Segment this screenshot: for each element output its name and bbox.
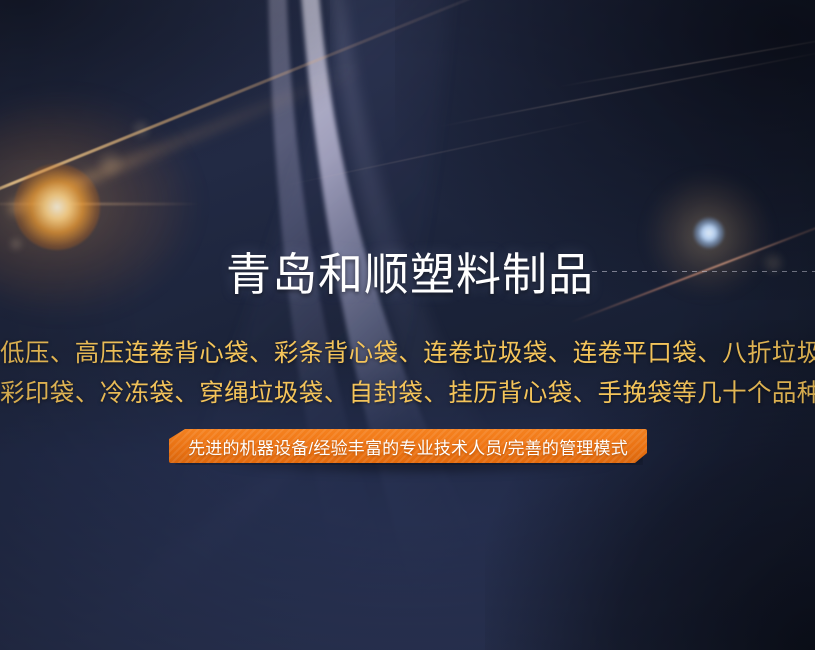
dashed-divider xyxy=(592,271,815,272)
ribbon-label: 先进的机器设备/经验丰富的专业技术人员/完善的管理模式 xyxy=(188,434,628,459)
tagline-ribbon: 先进的机器设备/经验丰富的专业技术人员/完善的管理模式 xyxy=(169,429,647,463)
lens-flare-core xyxy=(14,164,100,250)
star-flare-core xyxy=(694,218,724,248)
product-list-line-2: 彩印袋、冷冻袋、穿绳垃圾袋、自封袋、挂历背心袋、手挽袋等几十个品种 xyxy=(0,374,815,414)
page-title: 青岛和顺塑料制品 xyxy=(226,250,594,300)
lens-flare-orb-3 xyxy=(8,236,24,252)
lens-flare-orb-1 xyxy=(95,148,125,178)
lens-flare-orb-2 xyxy=(130,118,152,140)
star-flare-orb xyxy=(760,250,786,276)
promo-banner: 青岛和顺塑料制品 低压、高压连卷背心袋、彩条背心袋、连卷垃圾袋、连卷平口袋、八折… xyxy=(0,0,815,650)
product-list: 低压、高压连卷背心袋、彩条背心袋、连卷垃圾袋、连卷平口袋、八折垃圾袋、 彩印袋、… xyxy=(0,334,815,414)
ribbon-underglow xyxy=(209,462,619,476)
ribbon-body: 先进的机器设备/经验丰富的专业技术人员/完善的管理模式 xyxy=(169,429,647,463)
product-list-line-1: 低压、高压连卷背心袋、彩条背心袋、连卷垃圾袋、连卷平口袋、八折垃圾袋、 xyxy=(0,334,815,374)
